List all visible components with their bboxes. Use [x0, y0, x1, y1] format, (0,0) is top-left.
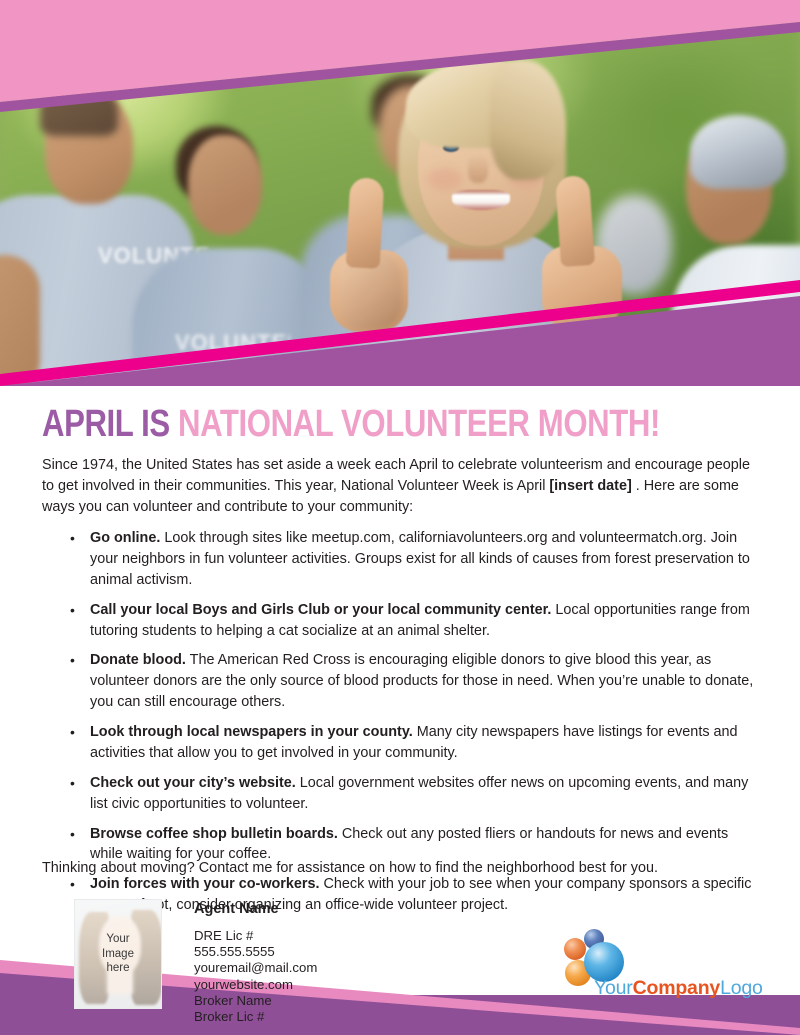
list-item-body: The American Red Cross is encouraging el… [90, 652, 753, 710]
title-part-april-is: APRIL IS [42, 403, 178, 445]
broker-lic: Broker Lic # [194, 1009, 317, 1025]
list-item: • Check out your city’s website. Local g… [42, 773, 756, 815]
list-item: • Browse coffee shop bulletin boards. Ch… [42, 824, 756, 866]
logo-word-company: Company [633, 977, 720, 999]
flyer-page: VOLUNTEER VOLUNTEER [0, 0, 800, 1035]
company-logo[interactable]: YourCompanyLogo [556, 928, 746, 1002]
agent-email[interactable]: youremail@mail.com [194, 960, 317, 976]
bullet-icon: • [70, 773, 75, 793]
volunteer-two-head [188, 135, 262, 235]
volunteer-left-arm [0, 255, 40, 386]
page-title: APRIL IS NATIONAL VOLUNTEER MONTH! [42, 405, 660, 443]
list-item-lead: Browse coffee shop bulletin boards. [90, 826, 338, 842]
agent-dre-lic: DRE Lic # [194, 928, 317, 944]
hero-banner: VOLUNTEER VOLUNTEER [0, 0, 800, 386]
bullet-icon: • [70, 528, 75, 548]
list-item: • Donate blood. The American Red Cross i… [42, 650, 756, 713]
bullet-icon: • [70, 874, 75, 894]
placeholder-label-line2: Image [102, 947, 134, 961]
list-item-lead: Go online. [90, 530, 160, 546]
list-item-lead: Look through local newspapers in your co… [90, 724, 413, 740]
thumbs-up-left-thumb [346, 177, 385, 269]
closing-line: Thinking about moving? Contact me for as… [42, 860, 754, 876]
bullet-icon: • [70, 824, 75, 844]
list-item: • Call your local Boys and Girls Club or… [42, 600, 756, 642]
intro-paragraph: Since 1974, the United States has set as… [42, 455, 754, 518]
bullet-icon: • [70, 600, 75, 620]
bullet-icon: • [70, 722, 75, 742]
broker-name: Broker Name [194, 993, 317, 1009]
woman-cheek-left [428, 168, 462, 190]
list-item-lead: Join forces with your co-workers. [90, 876, 320, 892]
agent-phone[interactable]: 555.555.5555 [194, 944, 317, 960]
bullet-icon: • [70, 650, 75, 670]
list-item-lead: Check out your city’s website. [90, 775, 296, 791]
woman-nose [468, 155, 488, 183]
placeholder-label: Your Image here [75, 900, 161, 1008]
agent-name: Agent Name [194, 901, 317, 917]
logo-wordmark: YourCompanyLogo [594, 977, 763, 1000]
thumbs-up-right-thumb [555, 175, 595, 267]
logo-word-your: Your [594, 977, 633, 999]
placeholder-label-line1: Your [106, 932, 129, 946]
agent-photo-placeholder[interactable]: Your Image here [74, 899, 162, 1009]
list-item-body: Look through sites like meetup.com, cali… [90, 530, 750, 588]
list-item: • Look through local newspapers in your … [42, 722, 756, 764]
volunteer-right-hair [690, 115, 786, 189]
list-item: • Go online. Look through sites like mee… [42, 528, 756, 591]
placeholder-label-line3: here [106, 961, 129, 975]
list-item-lead: Donate blood. [90, 652, 186, 668]
insert-date-token: [insert date] [549, 478, 631, 494]
logo-word-logo: Logo [720, 977, 763, 999]
agent-contact-block: Agent Name DRE Lic # 555.555.5555 yourem… [194, 901, 317, 1025]
agent-website[interactable]: yourwebsite.com [194, 977, 317, 993]
woman-smile [452, 190, 510, 210]
list-item-lead: Call your local Boys and Girls Club or y… [90, 602, 551, 618]
title-part-volunteer-month: NATIONAL VOLUNTEER MONTH! [178, 403, 660, 445]
